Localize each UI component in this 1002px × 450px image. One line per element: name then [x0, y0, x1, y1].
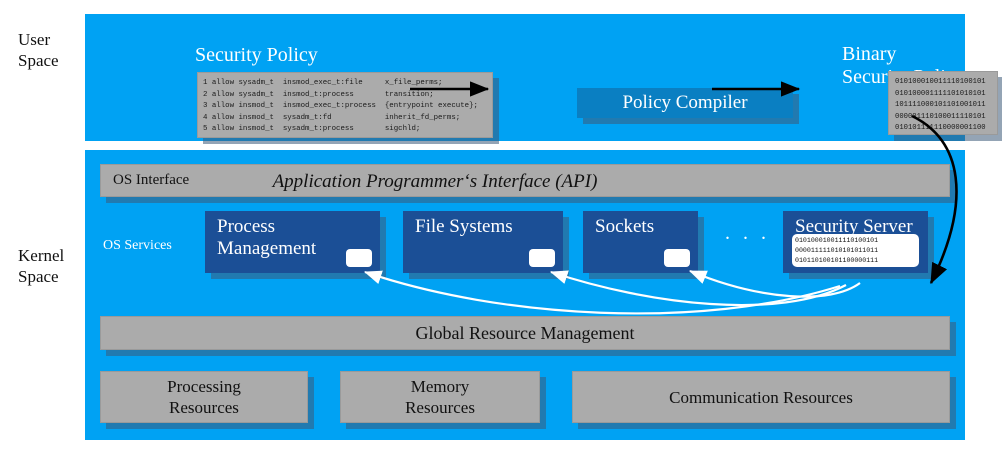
service-label-process-management: Process Management [217, 216, 316, 260]
user-space-panel: Security Policy 1 allow sysadm_t insmod_… [85, 14, 965, 141]
os-interface-box: OS Interface Application Programmer‘s In… [100, 164, 950, 197]
kernel-space-label: Kernel Space [18, 246, 64, 287]
services-ellipsis: . . . [725, 222, 770, 245]
resource-label-communication: Communication Resources [573, 372, 949, 422]
global-resource-management-label: Global Resource Management [101, 317, 949, 349]
security-policy-title: Security Policy [195, 44, 318, 67]
resource-box-processing: Processing Resources [100, 371, 308, 423]
security-server-binary-box: 010100010011110100101 000011111010101011… [792, 234, 919, 267]
resource-box-memory: Memory Resources [340, 371, 540, 423]
hook-icon-file-systems [529, 249, 555, 267]
hook-icon-process-management [346, 249, 372, 267]
resource-label-processing: Processing Resources [101, 372, 307, 422]
global-resource-management-box: Global Resource Management [100, 316, 950, 350]
security-policy-code-text: 1 allow sysadm_t insmod_exec_t:file x_fi… [198, 73, 492, 136]
service-label-file-systems: File Systems [415, 216, 513, 238]
diagram-root: User Space Kernel Space Security Policy … [0, 0, 1002, 450]
security-server-binary-text: 010100010011110100101 000011111010101011… [795, 236, 919, 265]
service-box-process-management[interactable]: Process Management [205, 211, 380, 273]
security-policy-code-box: 1 allow sysadm_t insmod_exec_t:file x_fi… [197, 72, 493, 138]
binary-security-policy-box: 010100010011110100101 010100001111101010… [888, 71, 998, 135]
os-services-label: OS Services [103, 238, 172, 254]
service-box-sockets[interactable]: Sockets [583, 211, 698, 273]
resource-label-memory: Memory Resources [341, 372, 539, 422]
policy-compiler-label: Policy Compiler [577, 88, 793, 118]
service-label-sockets: Sockets [595, 216, 654, 238]
resource-box-communication: Communication Resources [572, 371, 950, 423]
user-space-label: User Space [18, 30, 59, 71]
service-box-file-systems[interactable]: File Systems [403, 211, 563, 273]
hook-icon-sockets [664, 249, 690, 267]
service-box-security-server[interactable]: Security Server 010100010011110100101 00… [783, 211, 928, 273]
api-label: Application Programmer‘s Interface (API) [101, 171, 949, 193]
policy-compiler-box[interactable]: Policy Compiler [577, 88, 793, 118]
binary-security-policy-text: 010100010011110100101 010100001111101010… [889, 72, 997, 135]
